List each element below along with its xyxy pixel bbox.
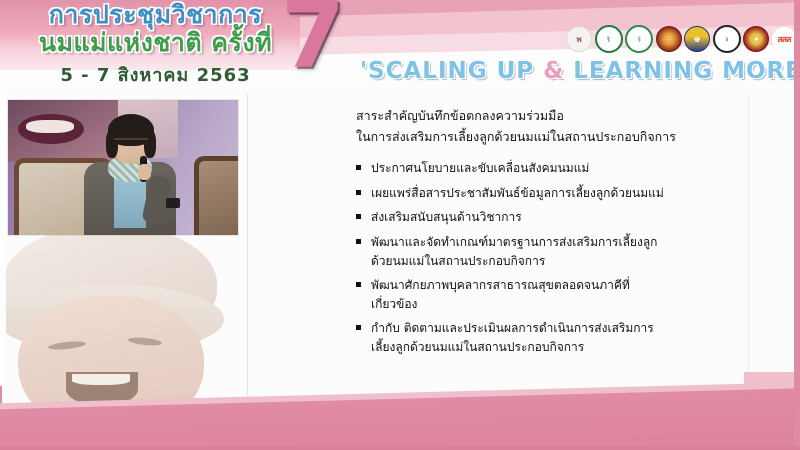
logo-thai-emblem-red-icon: ☉ [656, 26, 682, 52]
list-item: ส่งเสริมสนับสนุนด้านวิชาการ [356, 208, 736, 227]
bullet-text-line1: ส่งเสริมสนับสนุนด้านวิชาการ [371, 210, 522, 224]
bullet-text-line1: เผยแพร่สื่อสารประชาสัมพันธ์ข้อมูลการเลี้… [371, 186, 664, 200]
logo-sss-glyph: สสส [777, 32, 790, 46]
speaker-video-inset[interactable] [8, 100, 238, 235]
logo-royal-seal-icon: พ [566, 26, 592, 52]
bullet-square-icon [356, 165, 361, 170]
edition-number: 7 [281, 0, 345, 82]
list-item: พัฒนาศักยภาพบุคลากรสาธารณสุขตลอดจนภาคีที… [356, 276, 736, 313]
conference-title-line2: นมแม่แห่งชาติ ครั้งที่ [18, 30, 293, 55]
bullet-square-icon [356, 214, 361, 219]
logo-crest-glyph: ♚ [694, 35, 701, 44]
tagline-ampersand: & [543, 58, 564, 84]
bullet-text-line1: กำกับ ติดตามและประเมินผลการดำเนินการส่งเ… [371, 321, 654, 335]
speaker-hand [138, 164, 151, 180]
logo-mph-glyph: ⚕ [606, 35, 610, 44]
bullet-text-line2: เลี้ยงลูกด้วยนมแม่ในสถานประกอบกิจการ [371, 338, 736, 357]
slide-bottom-edge [0, 446, 800, 450]
slide-text-column: สาระสำคัญบันทึกข้อตกลงความร่วมมือ ในการส… [356, 106, 736, 363]
presentation-slide: การประชุมวิชาการ นมแม่แห่งชาติ ครั้งที่ … [0, 0, 800, 450]
conference-date: 5 - 7 สิงหาคม 2563 [18, 60, 293, 89]
bullet-text-line1: พัฒนาและจัดทำเกณฑ์มาตรฐานการส่งเสริมการเ… [371, 235, 657, 249]
sponsor-logo-row: พ ⚕ ⚕ ☉ ♚ ♀ ✦ สสส [566, 24, 796, 54]
bullet-text-line2: เกี่ยวข้อง [371, 295, 736, 314]
list-item: กำกับ ติดตามและประเมินผลการดำเนินการส่งเ… [356, 319, 736, 356]
poster-teeth [26, 120, 74, 133]
speaker-shirt [114, 174, 146, 228]
logo-garuda-glyph: ✦ [753, 35, 760, 44]
logo-health-department-icon: ⚕ [625, 25, 653, 53]
conference-tagline: 'SCALING UP & LEARNING MORE' [360, 58, 790, 84]
logo-ministry-public-health-icon: ⚕ [595, 25, 623, 53]
list-item: พัฒนาและจัดทำเกณฑ์มาตรฐานการส่งเสริมการเ… [356, 233, 736, 270]
list-item: เผยแพร่สื่อสารประชาสัมพันธ์ข้อมูลการเลี้… [356, 184, 736, 203]
bullet-text-line1: ประกาศนโยบายและขับเคลื่อนสังคมนมแม่ [371, 161, 589, 175]
speaker-glasses-icon [114, 138, 148, 147]
bullet-square-icon [356, 282, 361, 287]
bullet-text-line1: พัฒนาศักยภาพบุคลากรสาธารณสุขตลอดจนภาคีที… [371, 278, 630, 292]
bullet-text-line2: ด้วยนมแม่ในสถานประกอบกิจการ [371, 252, 736, 271]
presentation-clicker-icon [166, 198, 180, 208]
logo-royal-seal-glyph: พ [576, 33, 581, 46]
content-heading-line2: ในการส่งเสริมการเลี้ยงลูกด้วยนมแม่ในสถาน… [356, 127, 736, 148]
footer-band-right-light [744, 372, 800, 388]
conference-title-block: การประชุมวิชาการ นมแม่แห่งชาติ ครั้งที่ … [18, 2, 293, 89]
bullet-square-icon [356, 325, 361, 330]
content-heading-line1: สาระสำคัญบันทึกข้อตกลงความร่วมมือ [356, 106, 736, 127]
logo-thaihealth-sss-icon: สสส [772, 27, 796, 51]
conference-title-line1: การประชุมวิชาการ [18, 2, 293, 27]
bullet-square-icon [356, 239, 361, 244]
tagline-part1: 'SCALING UP [360, 58, 543, 84]
logo-garuda-red-icon: ✦ [743, 26, 769, 52]
logo-hd-glyph: ⚕ [637, 35, 641, 44]
slide-right-edge [794, 0, 800, 450]
card-right-edge [748, 94, 749, 414]
list-item: ประกาศนโยบายและขับเคลื่อนสังคมนมแม่ [356, 159, 736, 178]
chair-right [194, 156, 238, 235]
logo-royal-crest-icon: ♚ [684, 26, 710, 52]
logo-black-circle-emblem-icon: ♀ [713, 25, 741, 53]
logo-black-glyph: ♀ [724, 35, 730, 44]
bullet-square-icon [356, 190, 361, 195]
card-left-edge [0, 86, 6, 386]
footer-pink-band [0, 380, 800, 450]
logo-emblem-glyph: ☉ [665, 35, 672, 44]
content-bullet-list: ประกาศนโยบายและขับเคลื่อนสังคมนมแม่ เผยแ… [356, 159, 736, 356]
tagline-part2: LEARNING MORE' [564, 58, 800, 84]
